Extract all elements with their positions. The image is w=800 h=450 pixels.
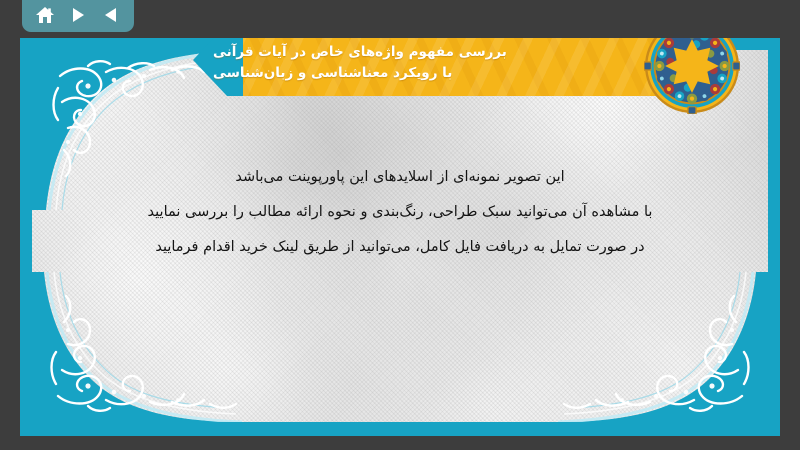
corner-ornament-bottom-right (558, 272, 768, 422)
triangle-left-icon (102, 6, 120, 24)
islamic-medallion-ornament (644, 38, 740, 114)
body-line-3: در صورت تمایل به دریافت فایل کامل، می‌تو… (54, 230, 746, 265)
body-line-2: با مشاهده آن می‌توانید سبک طراحی، رنگ‌بن… (54, 195, 746, 230)
home-button[interactable] (32, 3, 58, 27)
body-line-1: این تصویر نمونه‌ای از اسلایدهای این پاور… (54, 160, 746, 195)
previous-slide-button[interactable] (98, 3, 124, 27)
home-icon (35, 6, 55, 25)
presentation-window: این تصویر نمونه‌ای از اسلایدهای این پاور… (0, 0, 800, 450)
title-line-2: با رویکرد معناشناسی و زبان‌شناسی (213, 63, 452, 84)
slide-body-text: این تصویر نمونه‌ای از اسلایدهای این پاور… (54, 160, 746, 265)
triangle-right-icon (69, 6, 87, 24)
slide-canvas: این تصویر نمونه‌ای از اسلایدهای این پاور… (20, 38, 780, 436)
next-slide-button[interactable] (65, 3, 91, 27)
slide-navigation-bar (22, 0, 134, 32)
title-line-1: بررسی مفهوم واژه‌های خاص در آیات قرآنی (213, 42, 507, 63)
corner-ornament-bottom-left (32, 272, 242, 422)
